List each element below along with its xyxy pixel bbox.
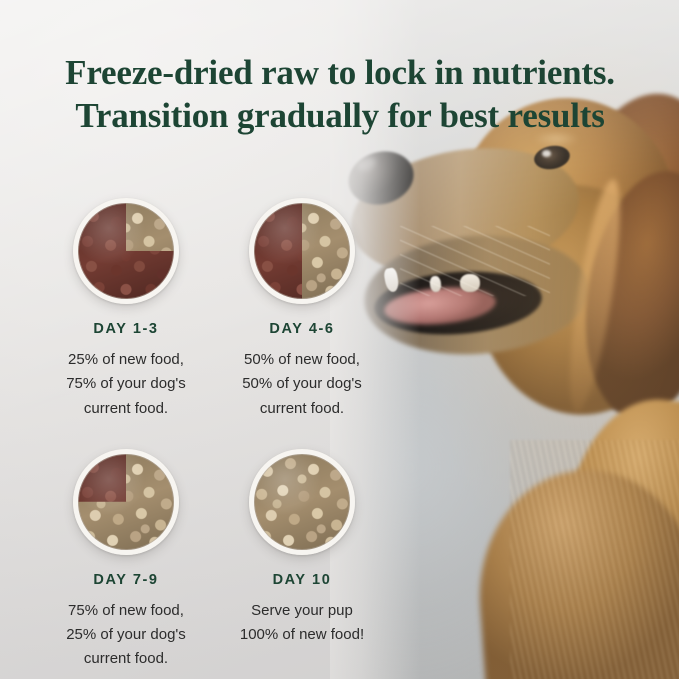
bowl-day-4-6 [249, 198, 355, 304]
product-infographic: Freeze-dried raw to lock in nutrients. T… [0, 0, 679, 679]
bowl-contents [254, 203, 350, 299]
step-description: Serve your pup 100% of new food! [240, 599, 364, 648]
day-label: DAY 1-3 [93, 321, 158, 337]
transition-steps: DAY 1-3 25% of new food, 75% of your dog… [38, 198, 390, 672]
bowl-day-7-9 [73, 449, 179, 555]
step-description: 50% of new food, 50% of your dog's curre… [242, 348, 362, 421]
bowl-day-10 [249, 449, 355, 555]
day-label: DAY 10 [273, 572, 332, 588]
bowl-contents [78, 454, 174, 550]
steps-row-1: DAY 1-3 25% of new food, 75% of your dog… [38, 198, 390, 421]
step-day-4-6: DAY 4-6 50% of new food, 50% of your dog… [214, 198, 390, 421]
bowl-contents [78, 203, 174, 299]
day-label: DAY 4-6 [269, 321, 334, 337]
bowl-contents [254, 454, 350, 550]
step-day-1-3: DAY 1-3 25% of new food, 75% of your dog… [38, 198, 214, 421]
new-food-kibble [254, 454, 350, 550]
bowl-day-1-3 [73, 198, 179, 304]
step-description: 75% of new food, 25% of your dog's curre… [66, 599, 186, 672]
page-title: Freeze-dried raw to lock in nutrients. T… [54, 51, 626, 137]
day-label: DAY 7-9 [93, 572, 158, 588]
step-description: 25% of new food, 75% of your dog's curre… [66, 348, 186, 421]
step-day-10: DAY 10 Serve your pup 100% of new food! [214, 449, 390, 672]
steps-row-2: DAY 7-9 75% of new food, 25% of your dog… [38, 449, 390, 672]
step-day-7-9: DAY 7-9 75% of new food, 25% of your dog… [38, 449, 214, 672]
